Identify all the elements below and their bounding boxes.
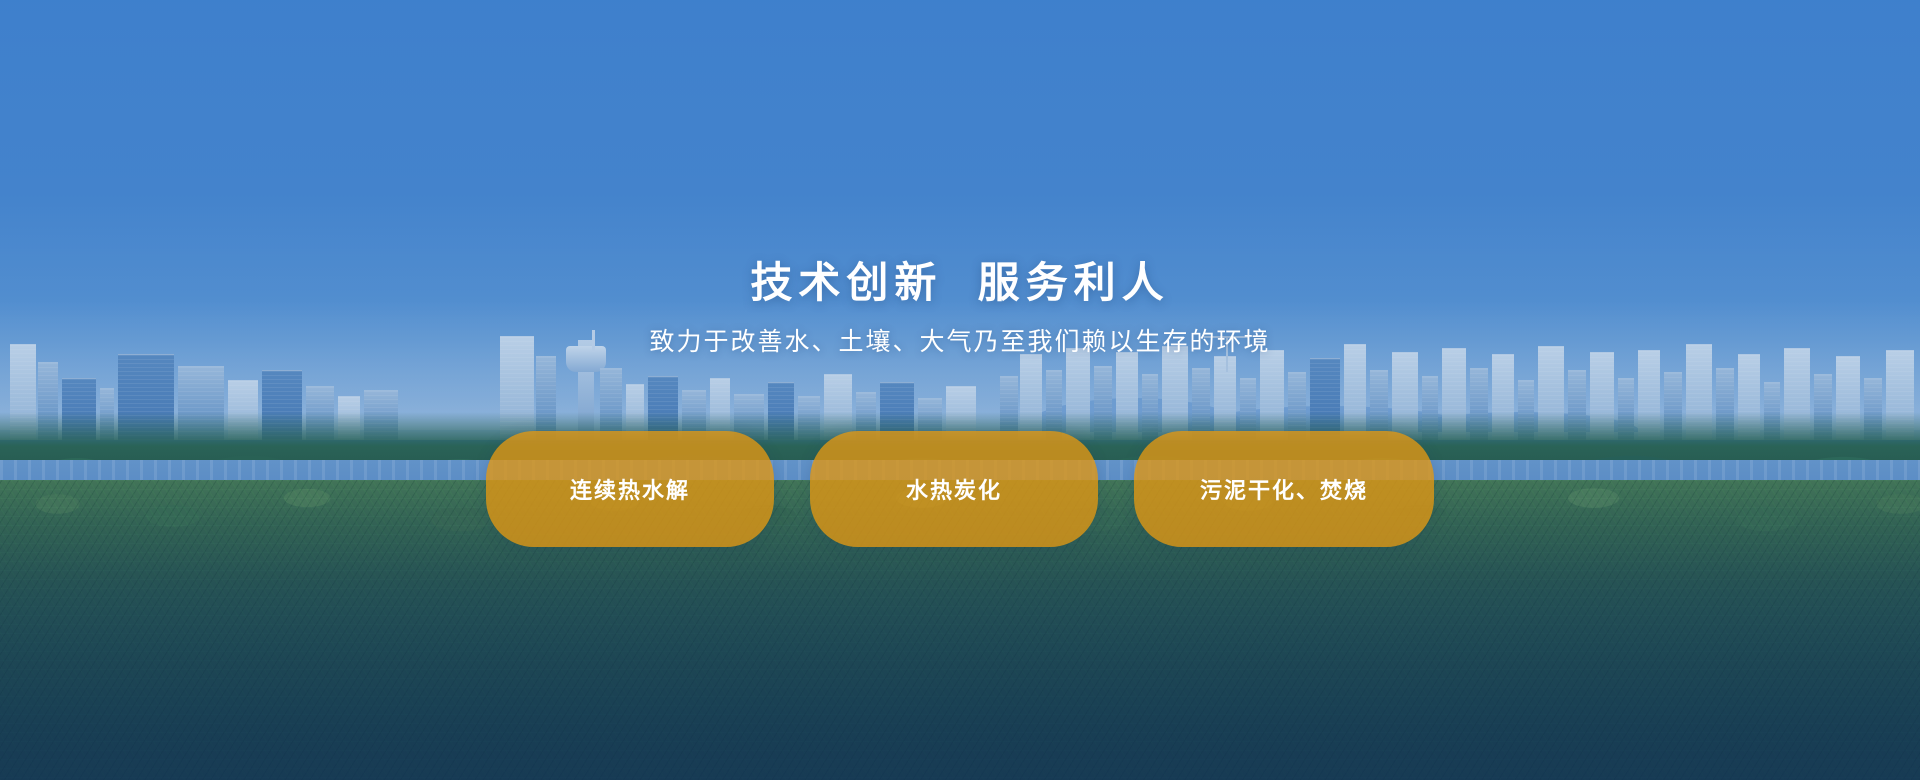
technology-button-row: 连续热水解 水热炭化 污泥干化、焚烧 [486,431,1434,547]
tech-button-sludge-drying-incineration[interactable]: 污泥干化、焚烧 [1134,431,1434,547]
hero-banner: 技术创新 服务利人 致力于改善水、土壤、大气乃至我们赖以生存的环境 连续热水解 … [0,0,1920,780]
hero-title: 技术创新 服务利人 [750,262,1169,304]
hero-subtitle: 致力于改善水、土壤、大气乃至我们赖以生存的环境 [649,330,1270,355]
tech-button-continuous-thermal-hydrolysis[interactable]: 连续热水解 [486,431,774,547]
tech-button-hydrothermal-carbonization[interactable]: 水热炭化 [810,431,1098,547]
